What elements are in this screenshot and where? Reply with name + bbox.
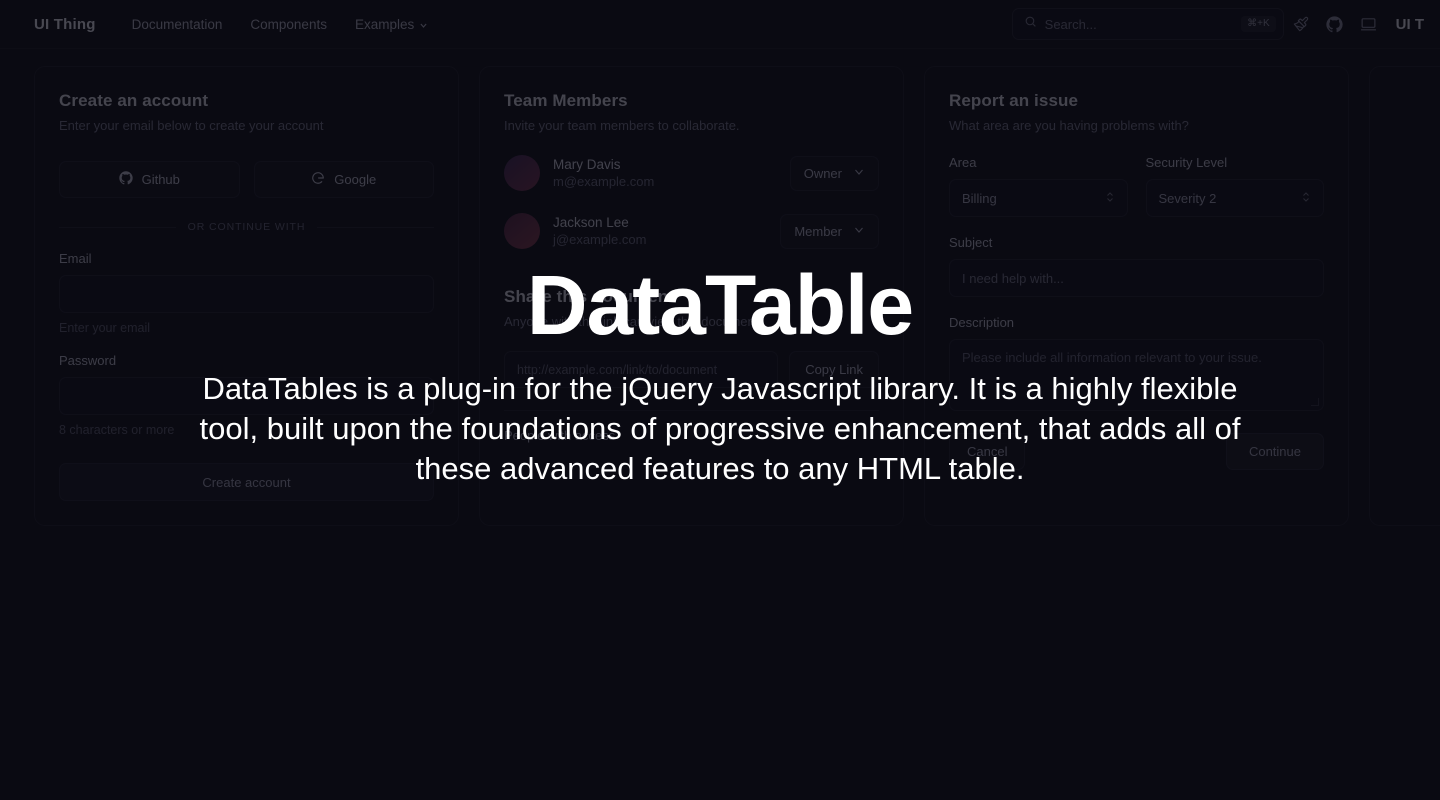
cards-grid: Create an account Enter your email below… [0,49,1440,526]
divider-line-right [317,227,434,228]
github-icon[interactable] [1318,7,1352,41]
member-role-value: Member [794,224,842,239]
card-subtitle: Enter your email below to create your ac… [59,118,434,133]
copy-link-button[interactable]: Copy Link [789,351,879,388]
search-shortcut-badge: ⌘+K [1241,16,1276,32]
page-background: UI Thing Documentation Components Exampl… [0,0,1440,800]
subject-label: Subject [949,235,1324,250]
description-label: Description [949,315,1324,330]
share-document-title: Share this document [504,287,879,307]
member-name: Jackson Lee [553,215,646,230]
continue-button[interactable]: Continue [1226,433,1324,470]
google-login-label: Google [334,172,376,187]
header-right: Search... ⌘+K UI T [1012,7,1424,41]
github-login-label: Github [142,172,180,187]
or-divider: OR CONTINUE WITH [59,221,434,233]
card-title: Report an issue [949,91,1324,111]
security-field-group: Security Level Severity 2 [1146,155,1325,217]
divider [504,410,879,411]
member-role-value: Owner [804,166,842,181]
list-item: Jackson Lee j@example.com Member [504,213,879,249]
create-account-card: Create an account Enter your email below… [34,66,459,526]
member-name: Mary Davis [553,157,654,172]
member-email: j@example.com [553,232,646,247]
report-actions: Cancel Continue [949,433,1324,470]
email-input[interactable] [59,275,434,313]
security-value: Severity 2 [1159,191,1217,206]
paintbrush-icon[interactable] [1284,7,1318,41]
report-issue-card: Report an issue What area are you having… [924,66,1349,526]
header-brand-secondary: UI T [1396,16,1424,33]
password-field-group: Password 8 characters or more [59,353,434,437]
cancel-button[interactable]: Cancel [949,433,1025,470]
share-document-subtitle: Anyone with the link can view this docum… [504,314,879,329]
chevron-updown-icon [1300,191,1312,206]
social-login-row: Github Google [59,161,434,198]
brand-logo[interactable]: UI Thing [34,16,96,33]
email-field-group: Email Enter your email [59,251,434,335]
nav-item-documentation[interactable]: Documentation [132,17,223,32]
chevron-down-icon [853,166,865,181]
partial-card-offscreen [1369,66,1440,526]
divider-line-left [59,227,176,228]
email-label: Email [59,251,434,266]
card-title: Create an account [59,91,434,111]
card-subtitle: Invite your team members to collaborate. [504,118,879,133]
description-field-group: Description Please include all informati… [949,315,1324,411]
member-identity: Mary Davis m@example.com [553,157,654,189]
app-header: UI Thing Documentation Components Exampl… [0,0,1440,49]
email-hint: Enter your email [59,321,434,335]
share-link-input[interactable]: http://example.com/link/to/document [504,351,778,388]
subject-input[interactable]: I need help with... [949,259,1324,297]
password-label: Password [59,353,434,368]
security-select[interactable]: Severity 2 [1146,179,1325,217]
member-role-select[interactable]: Member [780,214,879,249]
card-title: Team Members [504,91,879,111]
search-input[interactable]: Search... ⌘+K [1012,8,1284,40]
nav-label: Components [250,17,327,32]
divider-label: OR CONTINUE WITH [188,221,306,233]
nav-label: Examples [355,17,414,32]
resize-handle-icon[interactable] [1311,398,1319,406]
subject-field-group: Subject I need help with... [949,235,1324,297]
github-icon [119,171,133,188]
password-hint: 8 characters or more [59,423,434,437]
google-icon [311,171,325,188]
description-textarea[interactable]: Please include all information relevant … [949,339,1324,411]
card-subtitle: What area are you having problems with? [949,118,1324,133]
area-value: Billing [962,191,997,206]
area-field-group: Area Billing [949,155,1128,217]
nav-label: Documentation [132,17,223,32]
github-login-button[interactable]: Github [59,161,240,198]
avatar [504,213,540,249]
google-login-button[interactable]: Google [254,161,435,198]
nav-item-components[interactable]: Components [250,17,327,32]
team-members-card: Team Members Invite your team members to… [479,66,904,526]
create-account-button[interactable]: Create account [59,463,434,501]
member-role-select[interactable]: Owner [790,156,879,191]
share-link-row: http://example.com/link/to/document Copy… [504,351,879,388]
list-item: Mary Davis m@example.com Owner [504,155,879,191]
laptop-icon[interactable] [1352,7,1386,41]
avatar [504,155,540,191]
search-placeholder: Search... [1045,17,1233,32]
people-with-access-heading: People with access [504,428,879,443]
area-select[interactable]: Billing [949,179,1128,217]
chevron-updown-icon [1104,191,1116,206]
chevron-down-icon [419,21,428,30]
member-identity: Jackson Lee j@example.com [553,215,646,247]
password-input[interactable] [59,377,434,415]
nav-item-examples[interactable]: Examples [355,17,428,32]
security-label: Security Level [1146,155,1325,170]
description-placeholder: Please include all information relevant … [962,350,1262,365]
area-security-row: Area Billing Security Level Severity 2 [949,155,1324,217]
member-email: m@example.com [553,174,654,189]
chevron-down-icon [853,224,865,239]
area-label: Area [949,155,1128,170]
search-icon [1024,15,1037,33]
main-nav: Documentation Components Examples [132,17,429,32]
